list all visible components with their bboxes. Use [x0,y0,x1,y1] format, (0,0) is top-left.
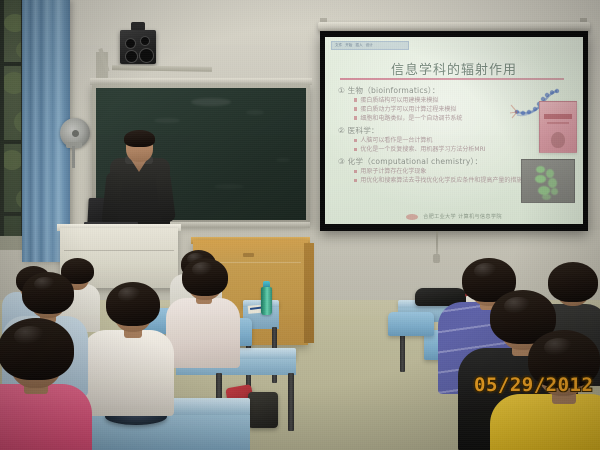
podium-latch [243,253,254,257]
menu-item-0: 文件 [335,44,342,48]
student-hair [548,262,598,302]
molecule-micrograph [521,159,575,203]
bullet-text: 优化是一个反复搜索、用机器学习方法分析MRI [360,146,485,154]
bullet-text: 细胞和电路类似，是一个自动调节系统 [360,115,462,123]
bullet-text: 蛋白质动力学可以用计算过程来模拟 [360,106,456,114]
book-cover-image [539,101,577,153]
classroom-photo: 文件 开始 插入 设计 信息学科的辐射作用 ① 生物（bioinformatic… [0,0,600,450]
slide-bullet-1-3: 细胞和电路类似，是一个自动调节系统 [354,115,530,123]
desk-leg [288,373,294,431]
bullet-text: 人脑可以看作是一台计算机 [360,137,432,145]
slide-menu-bar: 文件 开始 插入 设计 [331,41,409,50]
slide-bullet-2-2: 优化是一个反复搜索、用机器学习方法分析MRI [354,146,530,154]
slide-body: ① 生物（bioinformatics）： 蛋白质结构可以用建模来模拟 蛋白质动… [338,82,530,186]
slide-bullet-2-1: 人脑可以看作是一台计算机 [354,137,530,145]
presenter-hair [124,130,155,147]
slide-bullet-1-2: 蛋白质动力学可以用计算过程来模拟 [354,106,530,114]
bullet-marker-icon [354,107,357,110]
bullet-text: 用优化和搜索算法去寻找优化化学反应条件和提高产量的措施 [360,177,522,185]
slide-footer: 合肥工业大学 计算机与信息学院 [325,213,583,220]
book-portrait [551,132,565,148]
menu-item-3: 设计 [366,44,373,48]
bullet-text: 蛋白质结构可以用建模来模拟 [360,97,438,105]
slide-heading-1: ① 生物（bioinformatics）： [338,85,530,96]
bullet-marker-icon [354,139,357,142]
slide-heading-2: ② 医科学： [338,125,530,136]
screen-pull-cord-handle[interactable] [433,254,440,263]
camera-timestamp: 05/29/2012 [474,374,593,396]
book-title-band [544,114,572,119]
bullet-marker-icon [354,98,357,101]
fan-hub [72,130,79,137]
menu-item-1: 开始 [345,44,352,48]
student-body [0,384,92,450]
university-logo-icon [406,214,418,220]
slide-title-rule [340,78,564,80]
slide-heading-3: ③ 化学（computational chemistry）： [338,156,530,167]
slide-footer-text: 合肥工业大学 计算机与信息学院 [423,213,502,220]
dark-bag [248,392,278,428]
bullet-text: 用原子计算存在化学现象 [360,168,426,176]
podium-side [304,243,314,343]
student-body [490,394,600,450]
slide-bullet-3-1: 用原子计算存在化学现象 [354,168,530,176]
bullet-marker-icon [354,148,357,151]
projection-screen: 文件 开始 插入 设计 信息学科的辐射作用 ① 生物（bioinformatic… [320,31,588,231]
student-body [166,298,240,368]
slide-title: 信息学科的辐射作用 [325,59,583,78]
student-body [82,330,174,416]
wall-speaker-icon [120,30,156,64]
bullet-marker-icon [354,116,357,119]
menu-item-2: 插入 [355,44,362,48]
slide-canvas: 文件 开始 插入 设计 信息学科的辐射作用 ① 生物（bioinformatic… [325,37,583,224]
bullet-marker-icon [354,179,357,182]
fan-arm [72,146,75,168]
chair-back [388,312,434,336]
slide-bullet-3-2: 用优化和搜索算法去寻找优化化学反应条件和提高产量的措施 [354,177,530,185]
green-water-bottle [261,287,272,315]
bullet-marker-icon [354,170,357,173]
presenter [108,132,170,232]
slide-bullet-1-1: 蛋白质结构可以用建模来模拟 [354,97,530,105]
book-subtitle-band [547,122,569,124]
